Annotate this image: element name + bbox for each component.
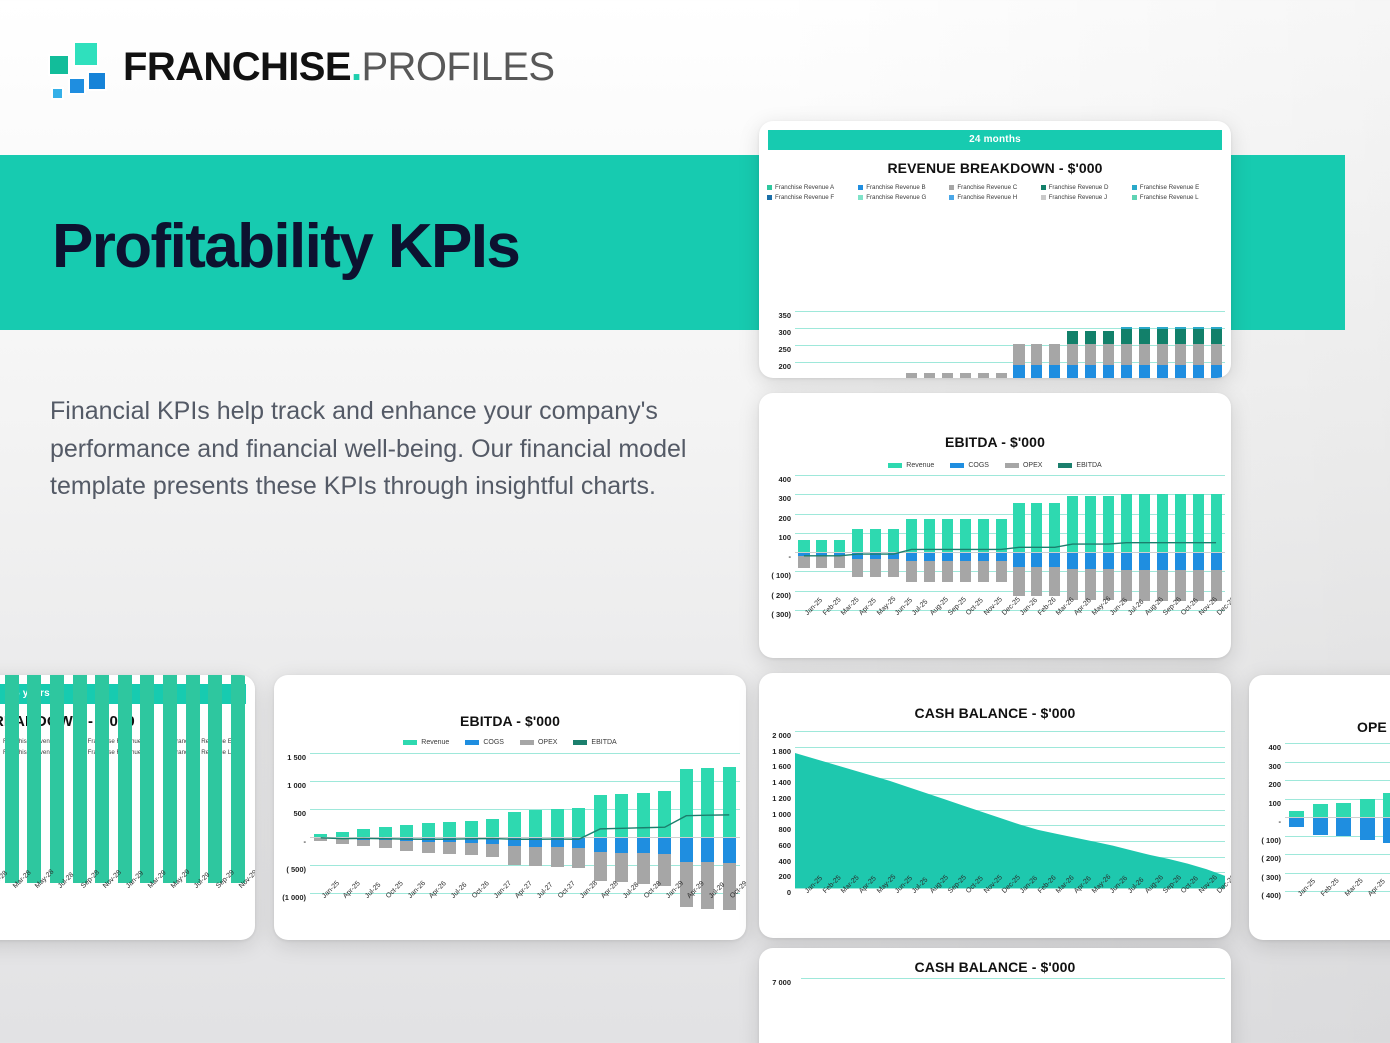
bar-column (903, 475, 921, 610)
bar-segment (1121, 494, 1132, 552)
bar-segment (400, 825, 413, 837)
bar-column (439, 753, 461, 893)
bar-segment (1360, 799, 1375, 817)
bar-stack-positive (942, 373, 953, 378)
bar-segment (1067, 331, 1078, 344)
bar-segment (906, 552, 917, 561)
bar-segment (996, 552, 1007, 561)
bar-stack-positive (1157, 494, 1168, 552)
bar-segment (1175, 494, 1186, 552)
legend-item: COGS (950, 462, 989, 469)
legend-item: Franchise Revenue J (1041, 194, 1132, 201)
brand-name-bold: FRANCHISE (123, 45, 351, 89)
legend-ebitda: Revenue COGS OPEX EBITDA (759, 462, 1231, 469)
bar-column (1010, 475, 1028, 610)
brand-name-dot: . (351, 45, 362, 89)
x-axis-tick: Jan-25 (1285, 891, 1309, 925)
bar-stack-negative (978, 552, 989, 582)
bar-stack-positive (1103, 496, 1114, 552)
bar-segment (186, 675, 200, 883)
bar-series-area (310, 753, 740, 893)
x-axis-tick: Apr-27 (504, 893, 526, 927)
x-axis-tick: Sep-26 (1153, 610, 1171, 644)
bar-column (831, 475, 849, 610)
card-revenue-breakdown-5years[interactable]: 5 years REAKDOWN - $'000 Franchise Reven… (0, 675, 255, 940)
card-title-revenue-breakdown: REVENUE BREAKDOWN - $'000 (759, 160, 1231, 176)
bar-column (91, 743, 114, 883)
bar-segment (1103, 496, 1114, 552)
bar-segment (551, 847, 564, 867)
y-axis-tick-label: 7 000 (772, 978, 791, 987)
bar-segment (208, 675, 222, 883)
y-axis-tick-label: ( 100) (771, 571, 791, 580)
bar-stack-negative (1013, 552, 1024, 596)
x-axis-tick: Mar-26 (1046, 610, 1064, 644)
bar-segment (680, 769, 693, 837)
chart-opex: ( 400)( 300)( 200)( 100)-100200300400Jan… (1255, 743, 1390, 891)
bar-segment (960, 373, 971, 378)
bar-segment (1313, 817, 1328, 835)
x-axis-tick: Apr-25 (332, 893, 354, 927)
bar-segment (1085, 365, 1096, 378)
five-squares-logo-icon (45, 38, 107, 96)
x-axis-tick: Jan-28 (568, 893, 590, 927)
y-axis-tick-label: 100 (778, 533, 791, 542)
bar-stack-positive (996, 519, 1007, 552)
x-axis-tick: Jul-26 (439, 893, 461, 927)
bar-segment (924, 552, 935, 561)
bar-stack-positive (551, 809, 564, 837)
bar-segment (1193, 365, 1204, 378)
bar-segment (1067, 569, 1078, 600)
x-axis-tick: Nov-28 (91, 883, 114, 917)
bar-segment (615, 853, 628, 883)
bar-stack-positive (1121, 494, 1132, 552)
legend-item: EBITDA (573, 739, 616, 746)
bar-stack-positive (95, 675, 109, 883)
bar-segment (637, 837, 650, 853)
bar-column (568, 753, 590, 893)
x-axis-tick: Oct-27 (547, 893, 569, 927)
x-axis-tick: Apr-25 (849, 610, 867, 644)
card-cash-balance-5years[interactable]: CASH BALANCE - $'000 5 0006 0007 000 (759, 948, 1231, 1043)
bar-column (1064, 311, 1082, 378)
x-axis-tick: Jul-25 (903, 888, 921, 922)
legend-item: Franchise Revenue G (858, 194, 949, 201)
bar-column (611, 753, 633, 893)
bar-segment (1336, 803, 1351, 817)
zero-line (1285, 817, 1390, 818)
bar-stack-positive (701, 768, 714, 837)
bar-column (813, 475, 831, 610)
bar-segment (701, 768, 714, 837)
y-axis-tick-label: (1 000) (282, 893, 306, 902)
card-opex[interactable]: OPE ( 400)( 300)( 200)( 100)-10020030040… (1249, 675, 1390, 940)
x-axis-tick: Jul-26 (1118, 888, 1136, 922)
bar-column (46, 743, 69, 883)
legend-item: Franchise Revenue A (767, 184, 858, 191)
bar-series-area (0, 743, 249, 883)
bar-stack-negative (422, 837, 435, 853)
bar-stack-positive (1031, 344, 1042, 378)
y-axis-tick-label: - (1279, 817, 1282, 826)
x-axis-tick: Nov-25 (974, 610, 992, 644)
bar-segment (960, 552, 971, 561)
bar-segment (551, 837, 564, 847)
bar-column (114, 743, 137, 883)
bar-segment (1139, 570, 1150, 601)
bar-column (849, 475, 867, 610)
gridline (795, 731, 1225, 732)
bar-column (310, 753, 332, 893)
bar-segment (1175, 365, 1186, 378)
card-cash-balance-24months[interactable]: CASH BALANCE - $'000 02004006008001 0001… (759, 673, 1231, 938)
bar-segment (1103, 365, 1114, 378)
y-axis-tick-label: ( 100) (1261, 836, 1281, 845)
logo-square-teal-dark (48, 54, 70, 76)
bar-column (136, 743, 159, 883)
legend-item: Franchise Revenue D (1041, 184, 1132, 191)
bar-segment (723, 767, 736, 837)
bar-stack-positive (852, 529, 863, 552)
bar-segment (465, 843, 478, 855)
bar-stack-negative (508, 837, 521, 865)
x-axis: Jan-25Feb-25Mar-25Apr-25May-25Jun-25Jul-… (1285, 891, 1390, 925)
x-axis-tick: Apr-29 (676, 893, 698, 927)
bar-stack-positive (978, 519, 989, 552)
legend-item: Franchise Revenue H (949, 194, 1040, 201)
chart-cash-balance-24months: 02004006008001 0001 2001 4001 6001 8002 … (765, 731, 1227, 888)
bar-column (795, 475, 813, 610)
bar-column (885, 311, 903, 378)
bar-stack-positive (1013, 344, 1024, 378)
bar-column (1207, 311, 1225, 378)
x-axis-tick: Sep-28 (68, 883, 91, 917)
bar-stack-negative (1049, 552, 1060, 596)
bar-column (1153, 475, 1171, 610)
bar-stack-positive (1103, 331, 1114, 378)
bar-column (676, 753, 698, 893)
bar-column (1046, 311, 1064, 378)
y-axis-tick-label: 400 (1268, 743, 1281, 752)
bar-column (332, 753, 354, 893)
gridline (795, 794, 1225, 795)
bar-segment (637, 793, 650, 837)
bar-segment (723, 837, 736, 863)
x-axis-tick: May-26 (1082, 610, 1100, 644)
bar-column (1082, 311, 1100, 378)
bar-stack-negative (1031, 552, 1042, 596)
y-axis-tick-label: ( 300) (771, 610, 791, 619)
card-title-opex: OPE (1249, 719, 1390, 735)
x-axis-tick: May-28 (23, 883, 46, 917)
bar-segment (465, 821, 478, 837)
brand-wordmark: FRANCHISE.PROFILES (123, 47, 555, 87)
bar-stack-negative (1085, 552, 1096, 600)
x-axis-tick: Feb-25 (1309, 891, 1333, 925)
chart-ebitda-24months: ( 300)( 200)( 100)-100200300400Jan-25Feb… (765, 475, 1227, 610)
card-ebitda-24months[interactable]: EBITDA - $'000 Revenue COGS OPEX EBITDA … (759, 393, 1231, 658)
x-axis-tick: Dec-25 (992, 888, 1010, 922)
bar-segment (1067, 344, 1078, 365)
y-axis-tick-label: 1 400 (772, 778, 791, 787)
x-axis: Jan-25Apr-25Jul-25Oct-25Jan-26Apr-26Jul-… (310, 893, 740, 927)
bar-segment (1383, 817, 1390, 843)
card-title-ebitda: EBITDA - $'000 (759, 434, 1231, 450)
y-axis-tick-label: 1 000 (772, 810, 791, 819)
bar-stack-negative (658, 837, 671, 886)
bar-segment (1313, 804, 1328, 817)
x-axis-tick: Nov-26 (1189, 610, 1207, 644)
logo-square-teal-large (73, 41, 99, 67)
bar-segment (1049, 503, 1060, 552)
gridline (795, 747, 1225, 748)
bar-stack-positive (118, 675, 132, 883)
bar-segment (870, 552, 881, 559)
y-axis-tick-label: 1 200 (772, 794, 791, 803)
x-axis-tick: Sep-25 (938, 610, 956, 644)
bar-column (1010, 311, 1028, 378)
bar-segment (996, 519, 1007, 552)
bar-segment (1121, 329, 1132, 344)
bar-stack-negative (1139, 552, 1150, 601)
bar-segment (336, 839, 349, 844)
bar-segment (508, 846, 521, 864)
x-axis-tick: Sep-26 (1153, 888, 1171, 922)
bar-stack-negative (798, 552, 809, 567)
bar-stack-positive (1121, 327, 1132, 378)
bar-segment (1211, 552, 1222, 570)
y-axis-tick-label: 2 000 (772, 731, 791, 740)
bar-segment (1211, 494, 1222, 552)
gridline (801, 978, 1225, 979)
bar-segment (658, 791, 671, 837)
x-axis-tick: Dec-25 (992, 610, 1010, 644)
bar-segment (996, 561, 1007, 582)
x-axis-tick: Oct-26 (461, 893, 483, 927)
bar-stack-positive (834, 540, 845, 552)
bar-segment (1175, 552, 1186, 570)
x-axis-tick: Feb-26 (1028, 610, 1046, 644)
bar-column (482, 753, 504, 893)
bar-stack-positive (924, 519, 935, 552)
gridline (795, 810, 1225, 811)
legend-item: Franchise Revenue B (858, 184, 949, 191)
card-ebitda-5years[interactable]: EBITDA - $'000 Revenue COGS OPEX EBITDA … (274, 675, 746, 940)
bar-stack-negative (1360, 817, 1375, 840)
bar-column (1, 743, 24, 883)
bar-stack-negative (551, 837, 564, 867)
bar-stack-positive (379, 827, 392, 837)
x-axis-tick: Mar-25 (1332, 891, 1356, 925)
legend-item: Franchise Revenue E (1132, 184, 1223, 191)
bar-segment (658, 854, 671, 886)
bar-stack-negative (379, 837, 392, 848)
bar-stack-positive (1193, 327, 1204, 378)
bar-segment (594, 795, 607, 837)
bar-stack-positive (658, 791, 671, 837)
bar-segment (1121, 344, 1132, 365)
bar-stack-negative (1289, 817, 1304, 827)
x-axis-tick: Jan-29 (114, 883, 137, 917)
bar-stack-positive (5, 675, 19, 883)
bar-column (504, 753, 526, 893)
bar-series-area (795, 475, 1225, 610)
x-axis-tick: Mar-29 (136, 883, 159, 917)
bar-column (903, 311, 921, 378)
bar-column (525, 753, 547, 893)
y-axis-tick-label: ( 400) (1261, 891, 1281, 900)
bar-segment (834, 540, 845, 552)
bar-segment (529, 837, 542, 847)
bar-segment (1157, 365, 1168, 378)
bar-segment (1121, 552, 1132, 570)
bar-segment (1360, 817, 1375, 840)
bar-segment (1336, 817, 1351, 836)
x-axis-tick: Jul-28 (611, 893, 633, 927)
bar-stack-negative (465, 837, 478, 855)
bar-column (992, 311, 1010, 378)
bar-stack-positive (357, 829, 370, 837)
bar-stack-negative (834, 552, 845, 567)
x-axis-tick: May-25 (867, 610, 885, 644)
bar-segment (1013, 344, 1024, 365)
bar-column (1153, 311, 1171, 378)
bar-column (867, 475, 885, 610)
bar-stack-negative (486, 837, 499, 857)
bar-stack-positive (1067, 496, 1078, 552)
bar-stack-negative (1193, 552, 1204, 601)
bar-segment (680, 837, 693, 862)
bar-stack-positive (1383, 793, 1390, 817)
bar-stack-negative (1313, 817, 1328, 835)
bar-segment (852, 529, 863, 552)
bar-stack-positive (572, 808, 585, 837)
x-axis-tick: Jul-29 (697, 893, 719, 927)
bar-segment (1157, 552, 1168, 570)
card-title-cash-balance-5y: CASH BALANCE - $'000 (759, 959, 1231, 975)
bar-segment (508, 837, 521, 846)
bar-segment (1103, 552, 1114, 569)
bar-segment (1049, 567, 1060, 596)
bar-column (956, 311, 974, 378)
x-axis-tick: Dec-26 (1207, 610, 1225, 644)
x-axis-tick: Nov-25 (974, 888, 992, 922)
bar-segment (529, 810, 542, 837)
bar-column (353, 753, 375, 893)
bar-segment (1157, 344, 1168, 365)
bar-stack-negative (400, 837, 413, 851)
x-axis-tick: May-29 (159, 883, 182, 917)
bar-column (1028, 311, 1046, 378)
bar-segment (1067, 552, 1078, 569)
bar-segment (594, 852, 607, 881)
bar-stack-positive (27, 675, 41, 883)
legend-revenue-breakdown: Franchise Revenue A Franchise Revenue B … (759, 184, 1231, 201)
y-axis-tick-label: 100 (1268, 799, 1281, 808)
y-axis-tick-label: 200 (778, 514, 791, 523)
bar-stack-positive (73, 675, 87, 883)
y-axis-tick-label: 300 (1268, 762, 1281, 771)
bar-column (227, 743, 250, 883)
x-axis-tick: Dec-26 (1207, 888, 1225, 922)
y-axis-tick-label: 200 (1268, 780, 1281, 789)
bar-segment (1193, 329, 1204, 344)
bar-column (1189, 475, 1207, 610)
x-axis-tick: Feb-26 (1028, 888, 1046, 922)
bar-column (885, 475, 903, 610)
gridline (795, 762, 1225, 763)
bar-column (23, 743, 46, 883)
bar-segment (888, 552, 899, 559)
bar-segment (978, 373, 989, 378)
bar-column (204, 743, 227, 883)
bar-stack-positive (680, 769, 693, 837)
bar-column (396, 753, 418, 893)
page-title: Profitability KPIs (52, 216, 519, 278)
bar-stack-positive (443, 822, 456, 837)
x-axis-tick: Mar-25 (831, 888, 849, 922)
x-axis-tick: Jan-26 (1010, 610, 1028, 644)
x-axis-tick: May-25 (1379, 891, 1390, 925)
bar-segment (314, 838, 327, 841)
y-axis-tick-label: 200 (778, 872, 791, 881)
bar-segment (1031, 365, 1042, 378)
card-revenue-breakdown-24months[interactable]: 24 months REVENUE BREAKDOWN - $'000 Fran… (759, 121, 1231, 378)
bar-segment (1031, 552, 1042, 567)
bar-stack-negative (1067, 552, 1078, 600)
x-axis-tick: Jul-29 (181, 883, 204, 917)
bar-segment (1103, 344, 1114, 365)
x-axis-tick: Jul-28 (46, 883, 69, 917)
bar-stack-positive (888, 529, 899, 552)
bar-stack-negative (870, 552, 881, 577)
y-axis-tick-label: 800 (778, 825, 791, 834)
bar-segment (572, 837, 585, 848)
x-axis-tick: Jan-26 (1010, 888, 1028, 922)
bar-segment (1085, 344, 1096, 365)
bar-stack-positive (960, 373, 971, 378)
bar-segment (816, 556, 827, 568)
bar-stack-positive (942, 519, 953, 552)
y-axis-tick-label: 350 (778, 311, 791, 320)
bar-segment (888, 529, 899, 552)
bar-segment (798, 540, 809, 552)
bar-stack-positive (208, 675, 222, 883)
bar-segment (888, 559, 899, 577)
x-axis-tick: Oct-28 (633, 893, 655, 927)
bar-stack-negative (816, 552, 827, 567)
bar-segment (996, 373, 1007, 378)
bar-segment (163, 675, 177, 883)
bar-stack-positive (924, 373, 935, 378)
bar-stack-positive (870, 529, 881, 552)
bar-segment (27, 675, 41, 883)
bar-segment (1139, 344, 1150, 365)
y-axis-tick-label: ( 300) (1261, 873, 1281, 882)
y-axis-tick-label: 300 (778, 328, 791, 337)
card-title-ebitda-5y: EBITDA - $'000 (274, 713, 746, 729)
bar-segment (95, 675, 109, 883)
bar-segment (379, 827, 392, 837)
x-axis-tick: Sep-25 (938, 888, 956, 922)
bar-segment (529, 847, 542, 866)
brand-logo: FRANCHISE.PROFILES (45, 38, 555, 96)
bar-stack-negative (637, 837, 650, 884)
bar-segment (1067, 496, 1078, 552)
bar-segment (637, 853, 650, 884)
x-axis-tick: Jan-29 (654, 893, 676, 927)
